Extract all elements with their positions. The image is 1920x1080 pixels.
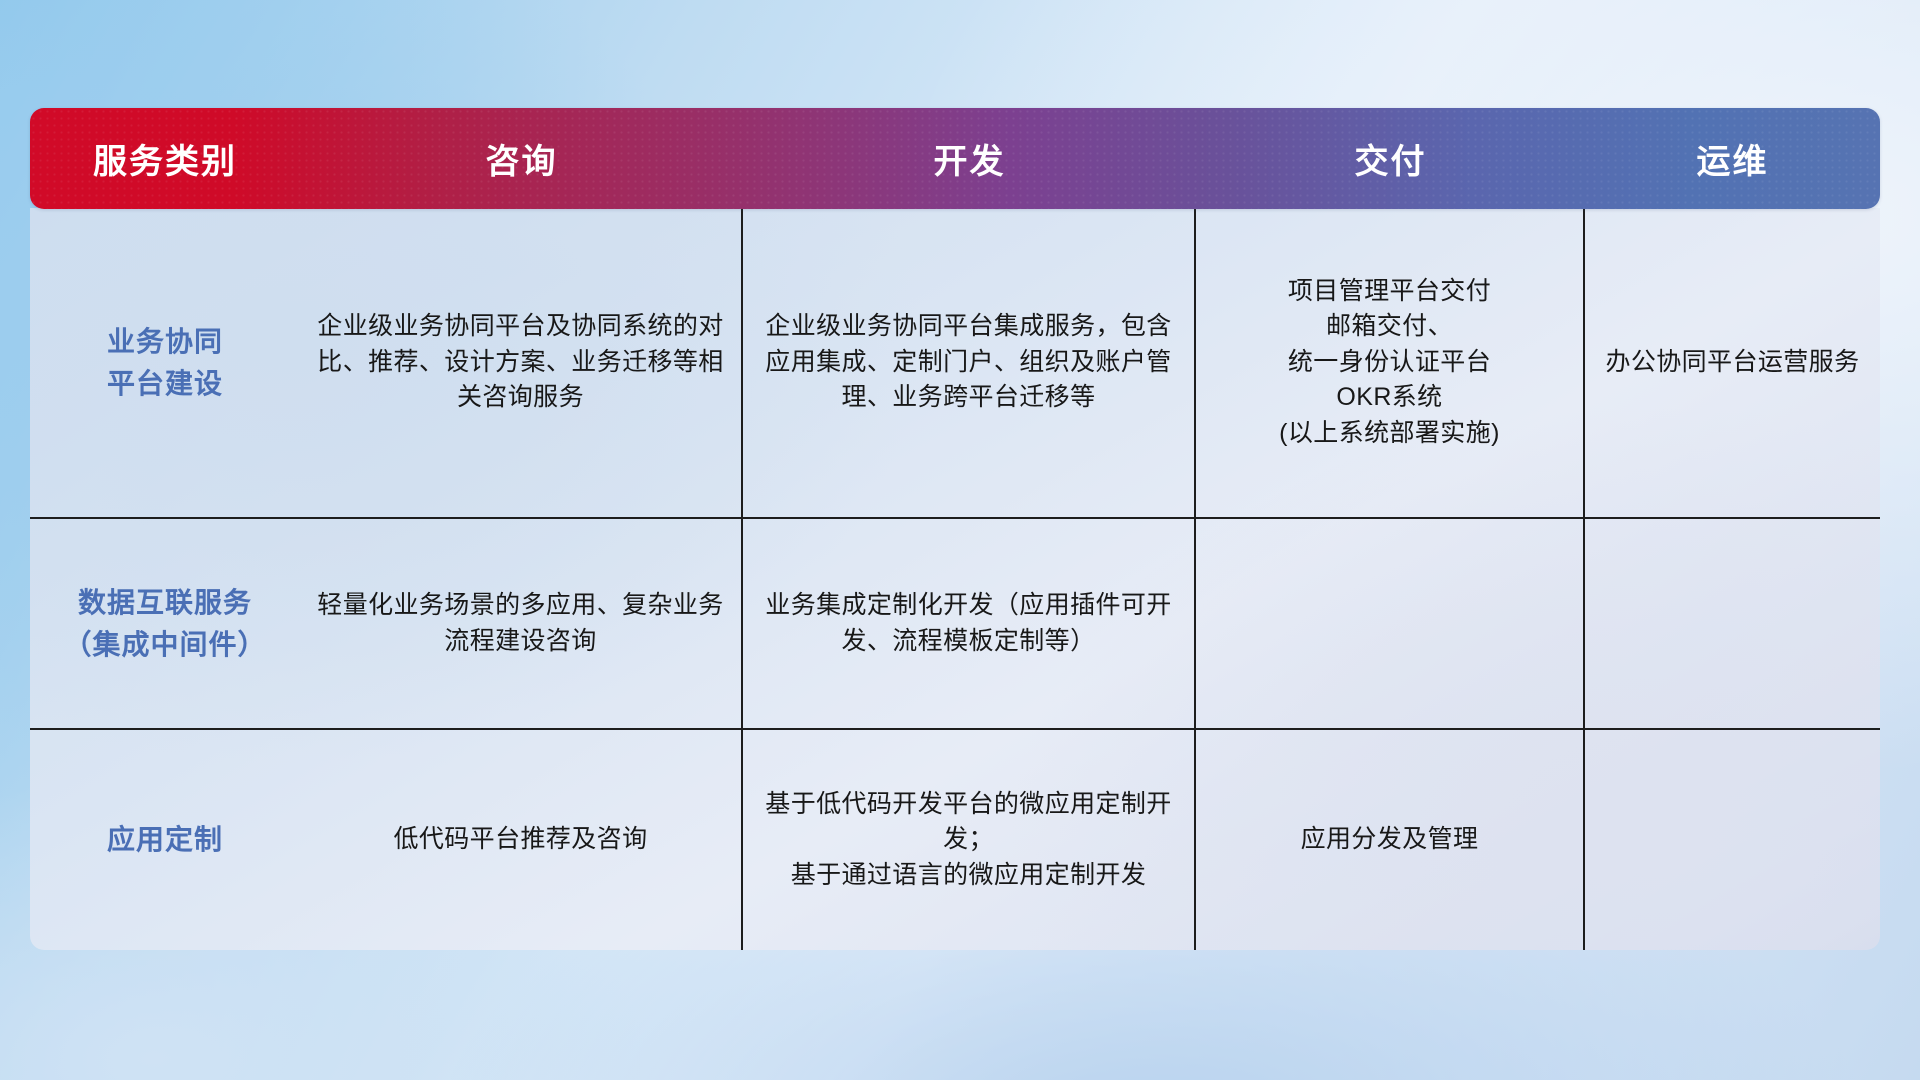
column-header-development: 开发 <box>743 134 1196 183</box>
cell-development: 企业级业务协同平台集成服务，包含应用集成、定制门户、组织及账户管理、业务跨平台迁… <box>743 208 1196 517</box>
table-row: 应用定制 低代码平台推荐及咨询 基于低代码开发平台的微应用定制开发； 基于通过语… <box>30 728 1880 950</box>
row-category-label: 应用定制 <box>30 730 300 950</box>
cell-consulting: 企业级业务协同平台及协同系统的对比、推荐、设计方案、业务迁移等相关咨询服务 <box>300 208 743 517</box>
category-line: （集成中间件） <box>44 624 286 666</box>
cell-development: 业务集成定制化开发（应用插件可开发、流程模板定制等） <box>743 519 1196 728</box>
table-row: 业务协同 平台建设 企业级业务协同平台及协同系统的对比、推荐、设计方案、业务迁移… <box>30 208 1880 517</box>
category-line: 平台建设 <box>44 363 286 405</box>
column-header-category: 服务类别 <box>30 134 300 183</box>
table-header-bar: 服务类别 咨询 开发 交付 运维 <box>30 108 1880 209</box>
cell-operations <box>1585 519 1880 728</box>
row-category-label: 数据互联服务 （集成中间件） <box>30 519 300 728</box>
slide-canvas: 业务协同 平台建设 企业级业务协同平台及协同系统的对比、推荐、设计方案、业务迁移… <box>0 0 1920 1080</box>
development-line: 基于通过语言的微应用定制开发 <box>757 858 1180 894</box>
delivery-line: 项目管理平台交付 <box>1210 274 1569 310</box>
column-header-delivery: 交付 <box>1196 134 1585 183</box>
cell-development: 基于低代码开发平台的微应用定制开发； 基于通过语言的微应用定制开发 <box>743 730 1196 950</box>
category-line: 应用定制 <box>44 819 286 861</box>
table-row: 数据互联服务 （集成中间件） 轻量化业务场景的多应用、复杂业务流程建设咨询 业务… <box>30 517 1880 728</box>
delivery-line: 统一身份认证平台 <box>1210 345 1569 381</box>
category-line: 业务协同 <box>44 321 286 363</box>
cell-consulting: 轻量化业务场景的多应用、复杂业务流程建设咨询 <box>300 519 743 728</box>
cell-operations: 办公协同平台运营服务 <box>1585 208 1880 517</box>
cell-delivery: 应用分发及管理 <box>1196 730 1585 950</box>
cell-operations <box>1585 730 1880 950</box>
delivery-line: (以上系统部署实施) <box>1210 416 1569 452</box>
delivery-line: 邮箱交付、 <box>1210 309 1569 345</box>
column-header-operations: 运维 <box>1585 134 1880 183</box>
cell-delivery <box>1196 519 1585 728</box>
row-category-label: 业务协同 平台建设 <box>30 208 300 517</box>
cell-delivery: 项目管理平台交付 邮箱交付、 统一身份认证平台 OKR系统 (以上系统部署实施) <box>1196 208 1585 517</box>
table-body: 业务协同 平台建设 企业级业务协同平台及协同系统的对比、推荐、设计方案、业务迁移… <box>30 208 1880 950</box>
delivery-line: OKR系统 <box>1210 380 1569 416</box>
development-line: 基于低代码开发平台的微应用定制开发； <box>757 787 1180 858</box>
column-header-consulting: 咨询 <box>300 134 743 183</box>
category-line: 数据互联服务 <box>44 582 286 624</box>
service-matrix-table: 业务协同 平台建设 企业级业务协同平台及协同系统的对比、推荐、设计方案、业务迁移… <box>30 108 1880 950</box>
cell-consulting: 低代码平台推荐及咨询 <box>300 730 743 950</box>
